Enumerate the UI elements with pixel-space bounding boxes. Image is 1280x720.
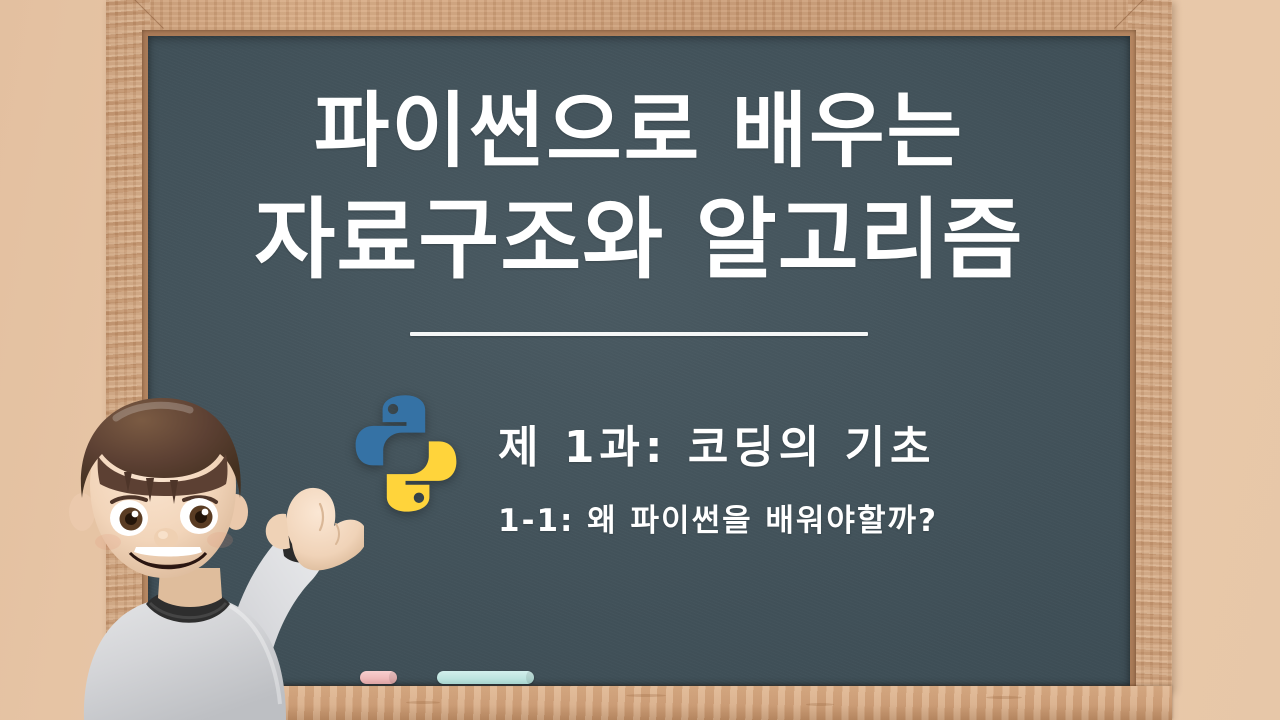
head [69,398,248,578]
ledge-speck [626,694,666,697]
lesson-text-block: 제 1과: 코딩의 기초 1-1: 왜 파이썬을 배워야할까? [498,388,938,540]
eye-right [180,498,218,534]
ledge-speck [406,701,440,704]
ledge-speck [806,703,834,706]
course-title-line-1: 파이썬으로 배우는 [148,78,1130,186]
eye-left [110,500,148,536]
title-divider-rule [410,332,868,336]
ledge-speck [986,696,1022,699]
lesson-title: 제 1과: 코딩의 기초 [498,420,938,475]
memoji-boy-raising-hand [24,392,364,720]
chalk-teal [437,671,534,684]
chalk-pink [360,671,397,684]
course-title-line-2: 자료구조와 알고리즘 [148,186,1130,294]
title-slide: 파이썬으로 배우는 자료구조와 알고리즘 제 1과: 코딩의 기초 1-1: 왜… [0,0,1280,720]
board-text-block: 파이썬으로 배우는 자료구조와 알고리즘 [148,78,1130,336]
lesson-subtitle: 1-1: 왜 파이썬을 배워야할까? [498,495,938,540]
